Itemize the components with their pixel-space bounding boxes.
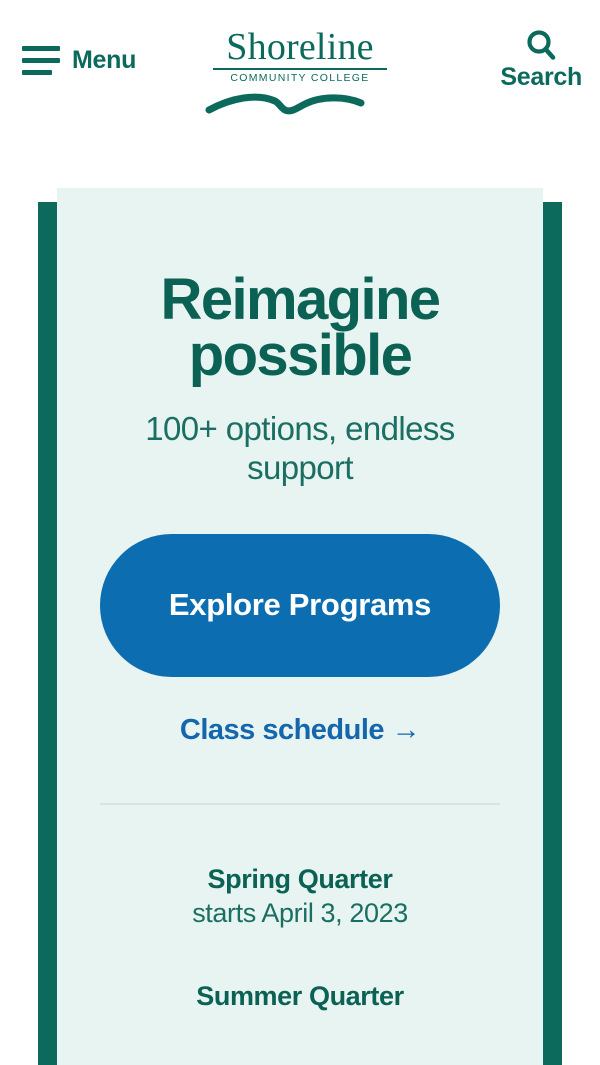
hero-title: Reimagine possible bbox=[80, 272, 520, 385]
menu-button-label: Menu bbox=[72, 48, 136, 73]
search-button-label: Search bbox=[500, 65, 582, 90]
logo-wordmark: Shoreline bbox=[205, 29, 395, 65]
hero-section: Reimagine possible 100+ options, endless… bbox=[0, 188, 600, 1065]
hero-subtitle: 100+ options, endless support bbox=[100, 409, 500, 488]
class-schedule-link[interactable]: Class schedule → bbox=[180, 714, 420, 747]
hero-accent-bar-left bbox=[38, 202, 57, 1065]
logo-subline: COMMUNITY COLLEGE bbox=[205, 72, 395, 85]
search-icon bbox=[524, 28, 558, 64]
quarter-info-spring: Spring Quarter starts April 3, 2023 bbox=[192, 863, 408, 932]
logo-divider-rule bbox=[213, 68, 387, 70]
hero-content: Reimagine possible 100+ options, endless… bbox=[57, 188, 543, 1065]
hamburger-icon bbox=[22, 46, 60, 75]
search-button[interactable]: Search bbox=[500, 28, 582, 90]
quarter-info-summer: Summer Quarter bbox=[196, 980, 403, 1014]
quarter-name: Spring Quarter bbox=[192, 863, 408, 897]
site-header: Menu Shoreline COMMUNITY COLLEGE Search bbox=[0, 0, 600, 188]
hero-accent-bar-right bbox=[543, 202, 562, 1065]
menu-button[interactable]: Menu bbox=[22, 46, 136, 75]
hero-divider bbox=[100, 803, 500, 805]
quarter-date: starts April 3, 2023 bbox=[192, 896, 408, 931]
site-logo[interactable]: Shoreline COMMUNITY COLLEGE bbox=[205, 29, 395, 116]
explore-programs-button[interactable]: Explore Programs bbox=[100, 534, 500, 677]
quarter-name: Summer Quarter bbox=[196, 980, 403, 1014]
wave-underline-icon bbox=[205, 90, 365, 116]
